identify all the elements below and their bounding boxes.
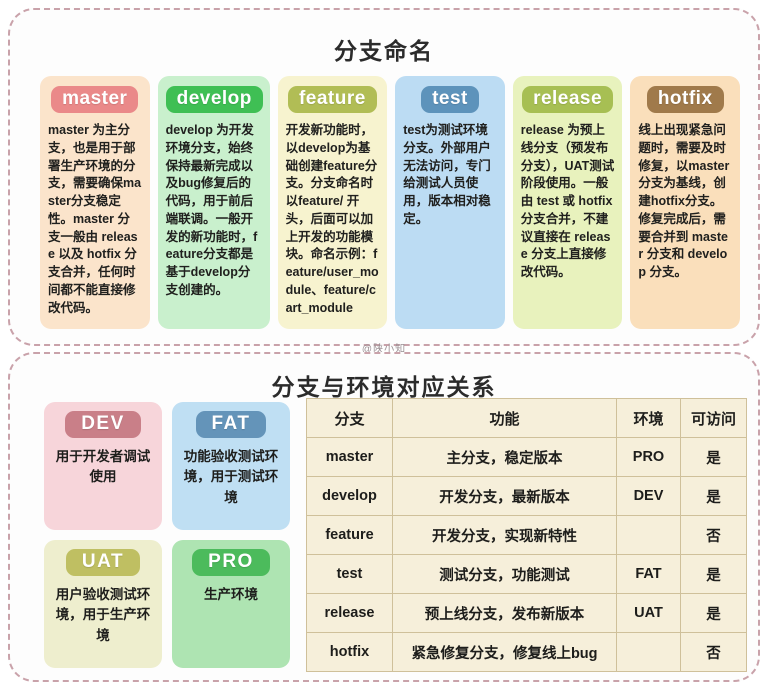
branch-pill-wrap-release: release (521, 86, 615, 122)
page-title-branch-naming: 分支命名 (10, 32, 758, 66)
table-row: master 主分支，稳定版本 PRO 是 (307, 438, 747, 477)
cell-branch: develop (307, 477, 393, 516)
branch-label-hotfix: hotfix (647, 86, 724, 113)
cell-access: 是 (681, 438, 747, 477)
environment-card-uat: UAT 用户验收测试环境，用于生产环境 (44, 540, 162, 668)
branch-pill-wrap-hotfix: hotfix (638, 86, 732, 122)
branch-card-feature: feature 开发新功能时，以develop为基础创建feature分支。分支… (278, 76, 388, 329)
cell-env: PRO (617, 438, 681, 477)
cell-access: 否 (681, 516, 747, 555)
branch-card-release: release release 为预上线分支（预发布分支），UAT测试阶段使用。… (513, 76, 623, 329)
cell-function: 主分支，稳定版本 (393, 438, 617, 477)
branch-description-develop: develop 为开发环境分支，始终保持最新完成以及bug修复后的代码，用于前后… (166, 122, 262, 300)
column-header-branch: 分支 (307, 399, 393, 438)
table-row: hotfix 紧急修复分支，修复线上bug 否 (307, 633, 747, 672)
cell-access: 是 (681, 594, 747, 633)
table-row: develop 开发分支，最新版本 DEV 是 (307, 477, 747, 516)
branch-description-test: test为测试环境分支。外部用户无法访问，专门给测试人员使用，版本相对稳定。 (403, 122, 497, 229)
cell-branch: feature (307, 516, 393, 555)
cell-env: UAT (617, 594, 681, 633)
table-header-row: 分支 功能 环境 可访问 (307, 399, 747, 438)
infographic-page: 分支命名 master master 为主分支，也是用于部署生产环境的分支，需要… (0, 0, 768, 668)
environment-label-dev: DEV (65, 411, 141, 438)
cell-branch: release (307, 594, 393, 633)
cell-function: 开发分支，实现新特性 (393, 516, 617, 555)
environment-description-fat: 功能验收测试环境，用于测试环境 (178, 447, 284, 508)
branch-pill-wrap-feature: feature (286, 86, 380, 122)
branch-description-master: master 为主分支，也是用于部署生产环境的分支，需要确保master分支稳定… (48, 122, 142, 317)
cell-env: DEV (617, 477, 681, 516)
environment-label-fat: FAT (196, 411, 267, 438)
branch-environment-table-wrap: 分支 功能 环境 可访问 master 主分支，稳定版本 PRO 是 devel… (306, 398, 746, 672)
table-body: master 主分支，稳定版本 PRO 是 develop 开发分支，最新版本 … (307, 438, 747, 672)
table-row: feature 开发分支，实现新特性 否 (307, 516, 747, 555)
environment-label-pro: PRO (192, 549, 270, 576)
branch-label-release: release (522, 86, 613, 113)
branch-pill-wrap-master: master (48, 86, 142, 122)
cell-function: 预上线分支，发布新版本 (393, 594, 617, 633)
cell-access: 是 (681, 555, 747, 594)
cell-function: 开发分支，最新版本 (393, 477, 617, 516)
environment-description-uat: 用户验收测试环境，用于生产环境 (50, 585, 156, 646)
branch-card-hotfix: hotfix 线上出现紧急问题时，需要及时修复，以master分支为基线，创建h… (630, 76, 740, 329)
table-row: test 测试分支，功能测试 FAT 是 (307, 555, 747, 594)
branch-card-list: master master 为主分支，也是用于部署生产环境的分支，需要确保mas… (40, 76, 740, 329)
cell-branch: master (307, 438, 393, 477)
branch-description-hotfix: 线上出现紧急问题时，需要及时修复，以master分支为基线，创建hotfix分支… (638, 122, 732, 282)
cell-function: 测试分支，功能测试 (393, 555, 617, 594)
branch-description-release: release 为预上线分支（预发布分支），UAT测试阶段使用。一般由 test… (521, 122, 615, 282)
cell-env: FAT (617, 555, 681, 594)
environment-description-pro: 生产环境 (178, 585, 284, 605)
cell-env (617, 516, 681, 555)
environment-label-uat: UAT (66, 549, 140, 576)
branch-environment-table: 分支 功能 环境 可访问 master 主分支，稳定版本 PRO 是 devel… (306, 398, 747, 672)
table-header: 分支 功能 环境 可访问 (307, 399, 747, 438)
cell-env (617, 633, 681, 672)
branch-description-feature: 开发新功能时，以develop为基础创建feature分支。分支命名时以feat… (286, 122, 380, 317)
branch-card-develop: develop develop 为开发环境分支，始终保持最新完成以及bug修复后… (158, 76, 270, 329)
column-header-access: 可访问 (681, 399, 747, 438)
environment-card-pro: PRO 生产环境 (172, 540, 290, 668)
page-title-branch-environment-mapping: 分支与环境对应关系 (10, 368, 758, 402)
environment-card-list: DEV 用于开发者调试使用 FAT 功能验收测试环境，用于测试环境 UAT 用户… (44, 402, 290, 668)
table-row: release 预上线分支，发布新版本 UAT 是 (307, 594, 747, 633)
branch-naming-panel: 分支命名 master master 为主分支，也是用于部署生产环境的分支，需要… (8, 8, 760, 346)
cell-function: 紧急修复分支，修复线上bug (393, 633, 617, 672)
cell-branch: test (307, 555, 393, 594)
branch-label-feature: feature (288, 86, 377, 113)
branch-label-test: test (421, 86, 479, 113)
branch-label-master: master (51, 86, 138, 113)
environment-description-dev: 用于开发者调试使用 (50, 447, 156, 488)
cell-access: 是 (681, 477, 747, 516)
environment-card-dev: DEV 用于开发者调试使用 (44, 402, 162, 530)
branch-pill-wrap-develop: develop (166, 86, 262, 122)
branch-environment-mapping-panel: 分支与环境对应关系 DEV 用于开发者调试使用 FAT 功能验收测试环境，用于测… (8, 352, 760, 682)
branch-card-test: test test为测试环境分支。外部用户无法访问，专门给测试人员使用，版本相对… (395, 76, 505, 329)
branch-label-develop: develop (166, 86, 263, 113)
cell-access: 否 (681, 633, 747, 672)
branch-card-master: master master 为主分支，也是用于部署生产环境的分支，需要确保mas… (40, 76, 150, 329)
column-header-function: 功能 (393, 399, 617, 438)
column-header-env: 环境 (617, 399, 681, 438)
environment-card-fat: FAT 功能验收测试环境，用于测试环境 (172, 402, 290, 530)
cell-branch: hotfix (307, 633, 393, 672)
branch-pill-wrap-test: test (403, 86, 497, 122)
